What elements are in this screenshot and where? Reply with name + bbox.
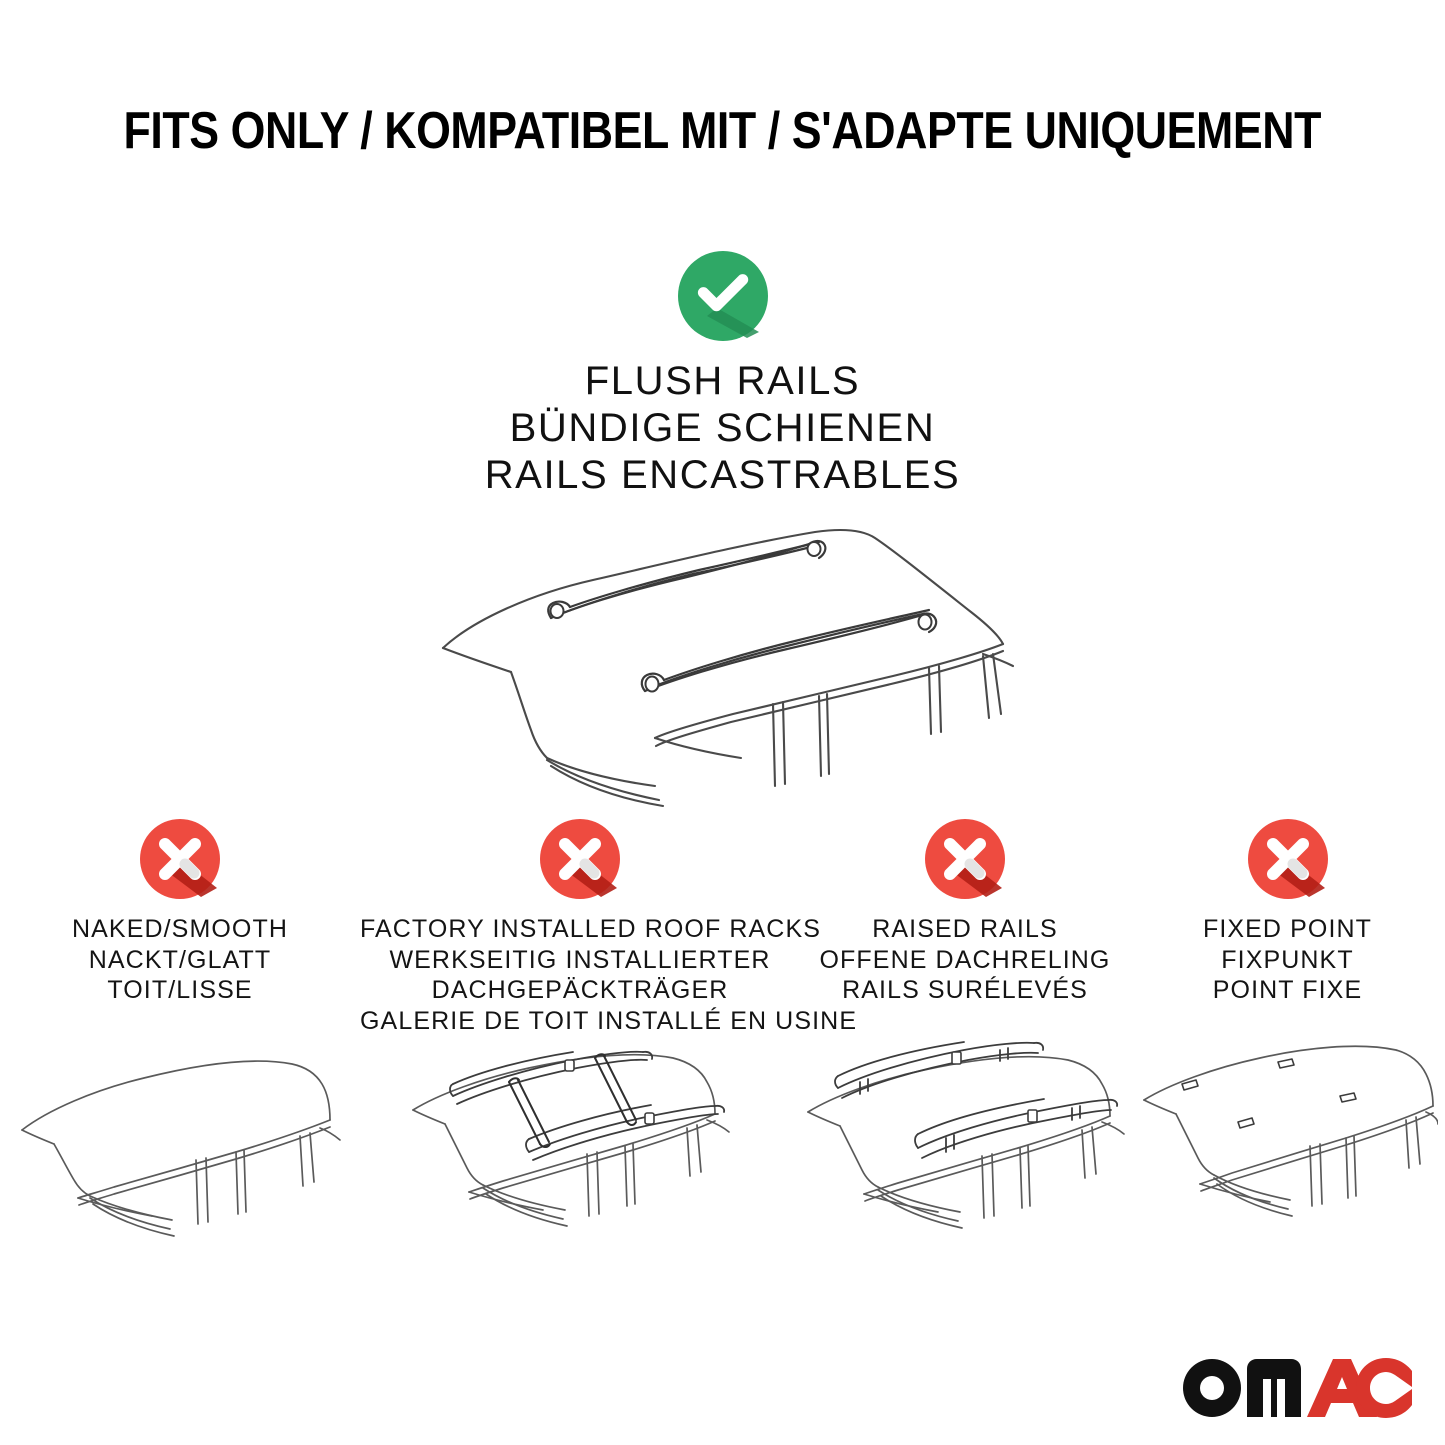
compatible-label-line-3: RAILS ENCASTRABLES [0,452,1445,499]
incompatible-item-naked-smooth: NAKED/SMOOTH NACKT/GLATT TOIT/LISSE [0,818,360,1264]
incompatible-item-fixed-point: FIXED POINT FIXPUNKT POINT FIXE [1130,818,1445,1264]
incompatible-label-line-1: RAISED RAILS [800,914,1130,945]
car-roof-naked-smooth-illustration [0,1034,360,1264]
incompatible-label-line-1: NAKED/SMOOTH [0,914,360,945]
incompatible-label-block: RAISED RAILS OFFENE DACHRELING RAILS SUR… [800,914,1130,1006]
incompatible-label-line-1: FACTORY INSTALLED ROOF RACKS [360,914,800,945]
page-title-text: FITS ONLY / KOMPATIBEL MIT / S'ADAPTE UN… [124,104,1322,159]
incompatible-label-line-3: RAILS SURÉLEVÉS [800,975,1130,1006]
incompatible-label-line-3: DACHGEPÄCKTRÄGER [360,975,800,1006]
incompatible-label-line-2: WERKSEITIG INSTALLIERTER [360,945,800,976]
incompatible-label-block: NAKED/SMOOTH NACKT/GLATT TOIT/LISSE [0,914,360,1006]
incompatible-label-line-1: FIXED POINT [1130,914,1445,945]
incompatible-label-line-2: OFFENE DACHRELING [800,945,1130,976]
incompatible-label-line-2: NACKT/GLATT [0,945,360,976]
car-roof-with-flush-rails-illustration [0,508,1445,808]
incompatible-item-factory-roof-racks: FACTORY INSTALLED ROOF RACKS WERKSEITIG … [360,818,800,1264]
compatible-label-line-1: FLUSH RAILS [0,358,1445,405]
incompatible-item-raised-rails: RAISED RAILS OFFENE DACHRELING RAILS SUR… [800,818,1130,1264]
omac-logo [1181,1355,1413,1421]
red-x-circle-icon [1247,818,1329,900]
red-x-circle-icon [139,818,221,900]
incompatible-label-line-2: FIXPUNKT [1130,945,1445,976]
incompatible-section: NAKED/SMOOTH NACKT/GLATT TOIT/LISSE [0,818,1445,1264]
compatible-label-block: FLUSH RAILS BÜNDIGE SCHIENEN RAILS ENCAS… [0,358,1445,500]
page-title: FITS ONLY / KOMPATIBEL MIT / S'ADAPTE UN… [0,104,1445,159]
red-x-circle-icon [924,818,1006,900]
incompatible-label-line-3: POINT FIXE [1130,975,1445,1006]
compatible-section: FLUSH RAILS BÜNDIGE SCHIENEN RAILS ENCAS… [0,250,1445,800]
car-roof-raised-rails-illustration [800,1034,1130,1264]
red-x-circle-icon [539,818,621,900]
incompatible-label-block: FIXED POINT FIXPUNKT POINT FIXE [1130,914,1445,1006]
compatible-label-line-2: BÜNDIGE SCHIENEN [0,405,1445,452]
incompatible-label-line-3: TOIT/LISSE [0,975,360,1006]
car-roof-factory-roof-racks-illustration [360,1034,800,1264]
green-check-circle-icon [677,250,769,342]
incompatible-label-line-4: GALERIE DE TOIT INSTALLÉ EN USINE [360,1006,800,1037]
incompatible-label-block: FACTORY INSTALLED ROOF RACKS WERKSEITIG … [360,914,800,1036]
car-roof-fixed-point-illustration [1130,1034,1445,1264]
